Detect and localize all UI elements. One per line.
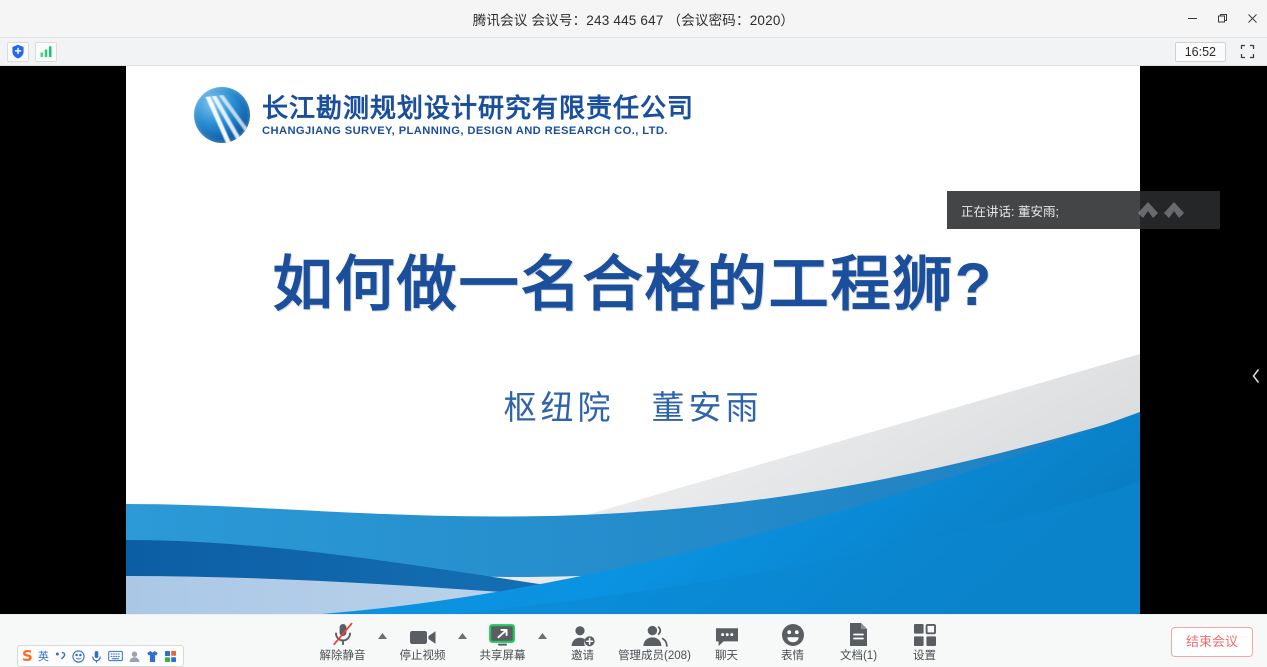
invite-person-icon [570,621,596,647]
signal-bars-icon[interactable] [35,42,57,62]
document-icon [848,621,869,647]
slide-subtitle: 枢纽院 董安雨 [126,381,1140,429]
sogou-logo-icon[interactable]: S [22,648,33,664]
close-button[interactable] [1237,0,1267,38]
company-logo-mark-icon [194,87,250,143]
window-controls [1177,0,1267,38]
audio-options-caret-icon[interactable] [376,621,390,639]
voice-input-icon[interactable] [90,650,103,663]
toolbox-icon[interactable] [164,650,177,663]
restore-button[interactable] [1207,0,1237,38]
toolbar-item-stop-video[interactable]: 停止视频 [390,621,456,664]
toolbar-items: 解除静音 停止视频 [310,618,958,664]
toolbar-item-documents[interactable]: 文档(1) [826,621,892,664]
active-speaker-toast: 正在讲话: 董安雨; [947,191,1220,229]
user-icon[interactable] [128,650,141,663]
meeting-clock: 16:52 [1175,42,1226,62]
title-bar: 腾讯会议 会议号：243 445 647 （会议密码：2020） [0,0,1267,38]
toolbar-label-chat: 聊天 [715,649,738,664]
emoji-icon[interactable] [72,650,85,663]
shared-slide: 长江勘测规划设计研究有限责任公司 CHANGJIANG SURVEY, PLAN… [126,66,1140,614]
punctuation-icon[interactable] [54,650,67,663]
shield-icon[interactable] [7,42,29,62]
camera-icon [409,621,437,647]
manage-members-icon [641,621,669,647]
ime-mode-toggle[interactable]: 英 [38,648,49,664]
status-bar: 16:52 [0,38,1267,66]
toolbar-item-manage-members[interactable]: 管理成员(208) [616,621,694,664]
status-bar-right: 16:52 [1175,42,1267,62]
collapse-panel-button[interactable] [1245,348,1267,404]
company-name-en: CHANGJIANG SURVEY, PLANNING, DESIGN AND … [262,125,694,138]
audio-wave-icon [1134,199,1204,223]
toolbar-label-unmute: 解除静音 [320,649,366,664]
meeting-window: 腾讯会议 会议号：243 445 647 （会议密码：2020） [0,0,1267,667]
end-meeting-button[interactable]: 结束会议 [1171,627,1253,657]
toolbar-label-settings: 设置 [913,649,936,664]
video-options-caret-icon[interactable] [456,621,470,639]
toolbar-item-chat[interactable]: 聊天 [694,621,760,664]
company-logo: 长江勘测规划设计研究有限责任公司 CHANGJIANG SURVEY, PLAN… [194,87,694,143]
company-logo-text: 长江勘测规划设计研究有限责任公司 CHANGJIANG SURVEY, PLAN… [262,93,694,138]
skin-icon[interactable] [146,650,159,663]
toolbar-label-documents: 文档(1) [840,649,877,664]
share-options-caret-icon[interactable] [536,621,550,639]
minimize-button[interactable] [1177,0,1207,38]
active-speaker-text: 正在讲话: 董安雨; [961,201,1059,220]
chat-icon [714,621,740,647]
microphone-muted-icon [331,621,355,647]
toolbar-item-invite[interactable]: 邀请 [550,621,616,664]
toolbar-label-invite: 邀请 [571,649,594,664]
toolbar-label-emoji: 表情 [781,649,804,664]
settings-grid-icon [913,621,937,647]
emoji-icon [781,621,805,647]
toolbar-label-manage-members: 管理成员(208) [618,649,691,664]
soft-keyboard-icon[interactable] [108,650,123,662]
toolbar-label-stop-video: 停止视频 [400,649,446,664]
toolbar-item-unmute[interactable]: 解除静音 [310,621,376,664]
share-screen-icon [489,621,517,647]
toolbar-item-emoji[interactable]: 表情 [760,621,826,664]
window-title: 腾讯会议 会议号：243 445 647 （会议密码：2020） [0,9,1177,29]
share-stage: 长江勘测规划设计研究有限责任公司 CHANGJIANG SURVEY, PLAN… [0,66,1267,614]
toolbar-label-share-screen: 共享屏幕 [480,649,526,664]
fullscreen-icon[interactable] [1236,42,1258,62]
company-name-cn: 长江勘测规划设计研究有限责任公司 [262,93,694,123]
status-bar-left [0,42,57,62]
meeting-toolbar: 解除静音 停止视频 [0,614,1267,667]
toolbar-item-share-screen[interactable]: 共享屏幕 [470,621,536,664]
ime-toolbar: S 英 [17,645,184,667]
toolbar-item-settings[interactable]: 设置 [892,621,958,664]
slide-title: 如何做一名合格的工程狮? [126,236,1140,323]
